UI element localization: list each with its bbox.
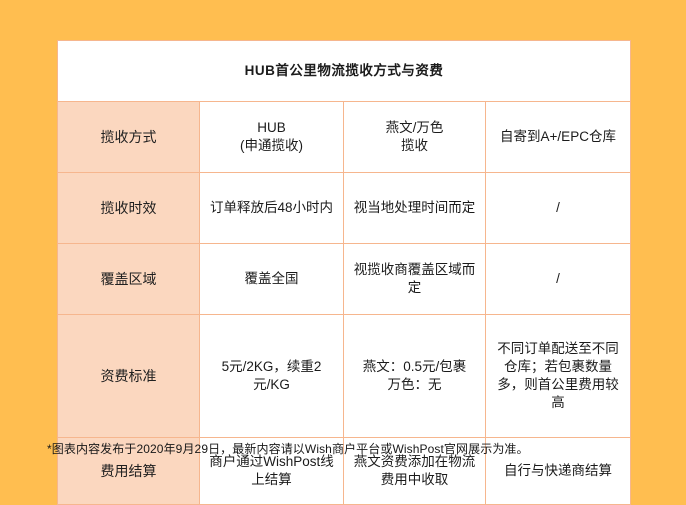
- cell-r2-c1: 视揽收商覆盖区域而定: [344, 244, 486, 315]
- cell-line: /: [493, 199, 623, 217]
- cell-r0-c2: 自寄到A+/EPC仓库: [486, 102, 631, 173]
- cell-r0-c0: HUB (申通揽收): [200, 102, 344, 173]
- table-title-row: HUB首公里物流揽收方式与资费: [58, 41, 631, 102]
- cell-r1-c2: /: [486, 173, 631, 244]
- row-label-collection-method: 揽收方式: [58, 102, 200, 173]
- cell-line: (申通揽收): [207, 137, 336, 155]
- cell-line: 视揽收商覆盖区域而定: [351, 261, 478, 297]
- cell-line: 商户通过WishPost线上结算: [207, 453, 336, 489]
- cell-line: 视当地处理时间而定: [351, 199, 478, 217]
- row-label-fee-standard: 资费标准: [58, 315, 200, 438]
- cell-line: HUB: [207, 119, 336, 137]
- table-row: 揽收方式 HUB (申通揽收) 燕文/万色 揽收 自寄到A+/EPC仓库: [58, 102, 631, 173]
- cell-line: 订单释放后48小时内: [207, 199, 336, 217]
- table-title: HUB首公里物流揽收方式与资费: [58, 41, 631, 102]
- footnote-text: *图表内容发布于2020年9月29日，最新内容请以Wish商户平台或WishPo…: [47, 441, 647, 458]
- cell-r3-c0: 5元/2KG，续重2元/KG: [200, 315, 344, 438]
- cell-r3-c2: 不同订单配送至不同仓库；若包裹数量多，则首公里费用较高: [486, 315, 631, 438]
- cell-r2-c2: /: [486, 244, 631, 315]
- table-row: 资费标准 5元/2KG，续重2元/KG 燕文：0.5元/包裹 万色：无 不同订单…: [58, 315, 631, 438]
- cell-line: 燕文资费添加在物流费用中收取: [351, 453, 478, 489]
- cell-line: 自行与快递商结算: [493, 462, 623, 480]
- cell-line: 不同订单配送至不同仓库；若包裹数量多，则首公里费用较高: [493, 340, 623, 411]
- cell-line: 万色：无: [351, 376, 478, 394]
- row-label-collection-timeliness: 揽收时效: [58, 173, 200, 244]
- cell-line: 覆盖全国: [207, 270, 336, 288]
- cell-r2-c0: 覆盖全国: [200, 244, 344, 315]
- cell-r3-c1: 燕文：0.5元/包裹 万色：无: [344, 315, 486, 438]
- cell-line: /: [493, 270, 623, 288]
- cell-r0-c1: 燕文/万色 揽收: [344, 102, 486, 173]
- table-row: 揽收时效 订单释放后48小时内 视当地处理时间而定 /: [58, 173, 631, 244]
- cell-line: 揽收: [351, 137, 478, 155]
- cell-line: 5元/2KG，续重2元/KG: [207, 358, 336, 394]
- table-row: 覆盖区域 覆盖全国 视揽收商覆盖区域而定 /: [58, 244, 631, 315]
- cell-r1-c0: 订单释放后48小时内: [200, 173, 344, 244]
- infographic-canvas: HUB首公里物流揽收方式与资费 揽收方式 HUB (申通揽收) 燕文/万色 揽收…: [0, 0, 686, 480]
- fee-comparison-table-wrapper: HUB首公里物流揽收方式与资费 揽收方式 HUB (申通揽收) 燕文/万色 揽收…: [57, 40, 630, 505]
- cell-line: 自寄到A+/EPC仓库: [493, 128, 623, 146]
- cell-line: 燕文：0.5元/包裹: [351, 358, 478, 376]
- row-label-coverage-area: 覆盖区域: [58, 244, 200, 315]
- fee-comparison-table: HUB首公里物流揽收方式与资费 揽收方式 HUB (申通揽收) 燕文/万色 揽收…: [57, 40, 631, 505]
- cell-r1-c1: 视当地处理时间而定: [344, 173, 486, 244]
- cell-line: 燕文/万色: [351, 119, 478, 137]
